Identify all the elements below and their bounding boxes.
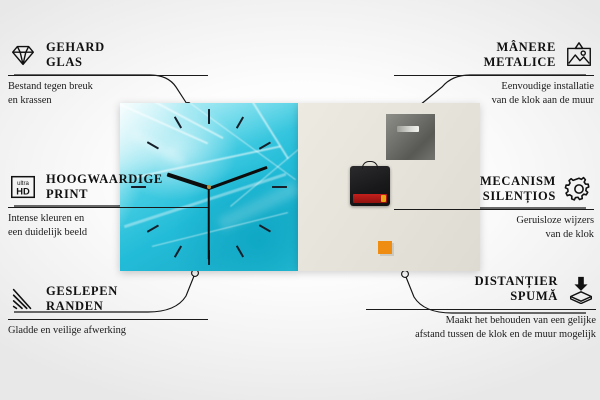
feature-title: MECANISM SILENȚIOS (480, 174, 556, 204)
feature-gehard-glas: GEHARD GLAS Bestand tegen breuk en krass… (8, 38, 208, 107)
foam-spacer (378, 241, 392, 254)
picture-frame-hook-icon (564, 40, 594, 70)
hanger-slot (397, 126, 419, 132)
feature-divider (366, 309, 596, 310)
feature-distantier-spuma: DISTANȚIER SPUMĂ Maakt het behouden van … (366, 272, 596, 341)
feature-description: Maakt het behouden van een gelijke afsta… (366, 314, 596, 341)
battery (353, 194, 387, 203)
metal-hanger-plate (386, 114, 435, 160)
feature-header: GESLEPEN RANDEN (8, 282, 208, 316)
gear-icon (564, 174, 594, 204)
feature-manere-metalice: MÂNERE METALICE Eenvoudige installatie v… (394, 38, 594, 107)
feature-divider (394, 209, 594, 210)
feature-description: Bestand tegen breuk en krassen (8, 80, 208, 107)
clock-movement (350, 166, 390, 206)
feature-description: Geruisloze wijzers van de klok (394, 214, 594, 241)
feature-header: GEHARD GLAS (8, 38, 208, 72)
feature-header: DISTANȚIER SPUMĂ (366, 272, 596, 306)
feature-header: ultra HD HOOGWAARDIGE PRINT (8, 170, 208, 204)
feature-description: Intense kleuren en een duidelijk beeld (8, 212, 208, 239)
feature-title: GESLEPEN RANDEN (46, 284, 118, 314)
feature-header: MECANISM SILENȚIOS (394, 172, 594, 206)
feature-description: Gladde en veilige afwerking (8, 324, 208, 338)
feature-title: HOOGWAARDIGE PRINT (46, 172, 163, 202)
feature-description: Eenvoudige installatie van de klok aan d… (394, 80, 594, 107)
feature-title: DISTANȚIER SPUMĂ (475, 274, 558, 304)
bevelled-edges-icon (8, 284, 38, 314)
feature-hoogwaardige-print: ultra HD HOOGWAARDIGE PRINT Intense kleu… (8, 170, 208, 239)
feature-header: MÂNERE METALICE (394, 38, 594, 72)
infographic-canvas: GEHARD GLAS Bestand tegen breuk en krass… (0, 0, 600, 400)
foam-spacer-icon (566, 274, 596, 304)
feature-divider (8, 207, 208, 208)
ultra-hd-icon: ultra HD (8, 172, 38, 202)
feature-divider (8, 319, 208, 320)
feature-mecanism-silentios: MECANISM SILENȚIOS Geruisloze wijzers va… (394, 172, 594, 241)
feature-title: MÂNERE METALICE (484, 40, 556, 70)
movement-hook (362, 161, 378, 169)
feature-divider (8, 75, 208, 76)
feature-geslepen-randen: GESLEPEN RANDEN Gladde en veilige afwerk… (8, 282, 208, 338)
diamond-icon (8, 40, 38, 70)
feature-title: GEHARD GLAS (46, 40, 105, 70)
clock-second-hand (208, 188, 210, 260)
feature-divider (394, 75, 594, 76)
svg-text:HD: HD (16, 187, 30, 197)
